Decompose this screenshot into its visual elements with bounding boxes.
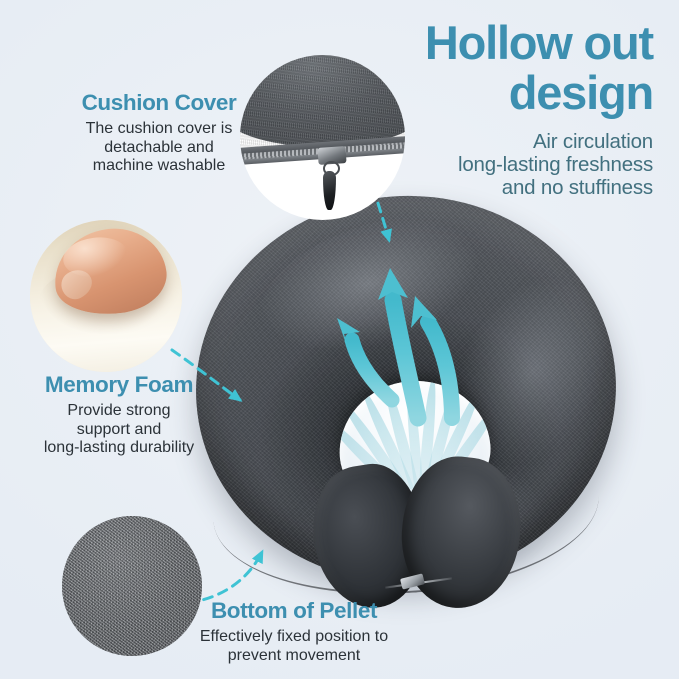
inset-bottom-pellet-photo [62, 516, 202, 656]
pillow-bottom-zipper [385, 574, 452, 591]
cushion-body-line-2: detachable and [48, 139, 270, 158]
cushion-body-line-3: machine washable [48, 157, 270, 176]
feature-memory-foam-heading: Memory Foam [16, 372, 222, 398]
feature-memory-foam-body: Provide strong support and long-lasting … [16, 402, 222, 458]
memory-body-line-1: Provide strong [16, 402, 222, 421]
pellet-body-line-2: prevent movement [183, 647, 405, 666]
zipper-pull-tab [400, 574, 425, 590]
feature-cushion-cover-heading: Cushion Cover [48, 90, 270, 116]
inset-memory-foam-photo [30, 220, 182, 372]
travel-pillow-photo [196, 188, 616, 608]
feature-bottom-of-pellet-body: Effectively fixed position to prevent mo… [183, 628, 405, 665]
infographic-canvas: Hollow out design Air circulation long-l… [0, 0, 679, 679]
zipper-pull [323, 171, 335, 211]
feature-memory-foam: Memory Foam Provide strong support and l… [16, 372, 222, 458]
cushion-body-line-1: The cushion cover is [48, 120, 270, 139]
pellet-texture [62, 516, 202, 656]
feature-bottom-of-pellet: Bottom of Pellet Effectively fixed posit… [183, 598, 405, 665]
thumbnail [57, 265, 97, 304]
feature-cushion-cover: Cushion Cover The cushion cover is detac… [48, 90, 270, 176]
feature-cushion-cover-body: The cushion cover is detachable and mach… [48, 120, 270, 176]
memory-body-line-3: long-lasting durability [16, 439, 222, 458]
feature-bottom-of-pellet-heading: Bottom of Pellet [183, 598, 405, 624]
pellet-body-line-1: Effectively fixed position to [183, 628, 405, 647]
memory-body-line-2: support and [16, 421, 222, 440]
